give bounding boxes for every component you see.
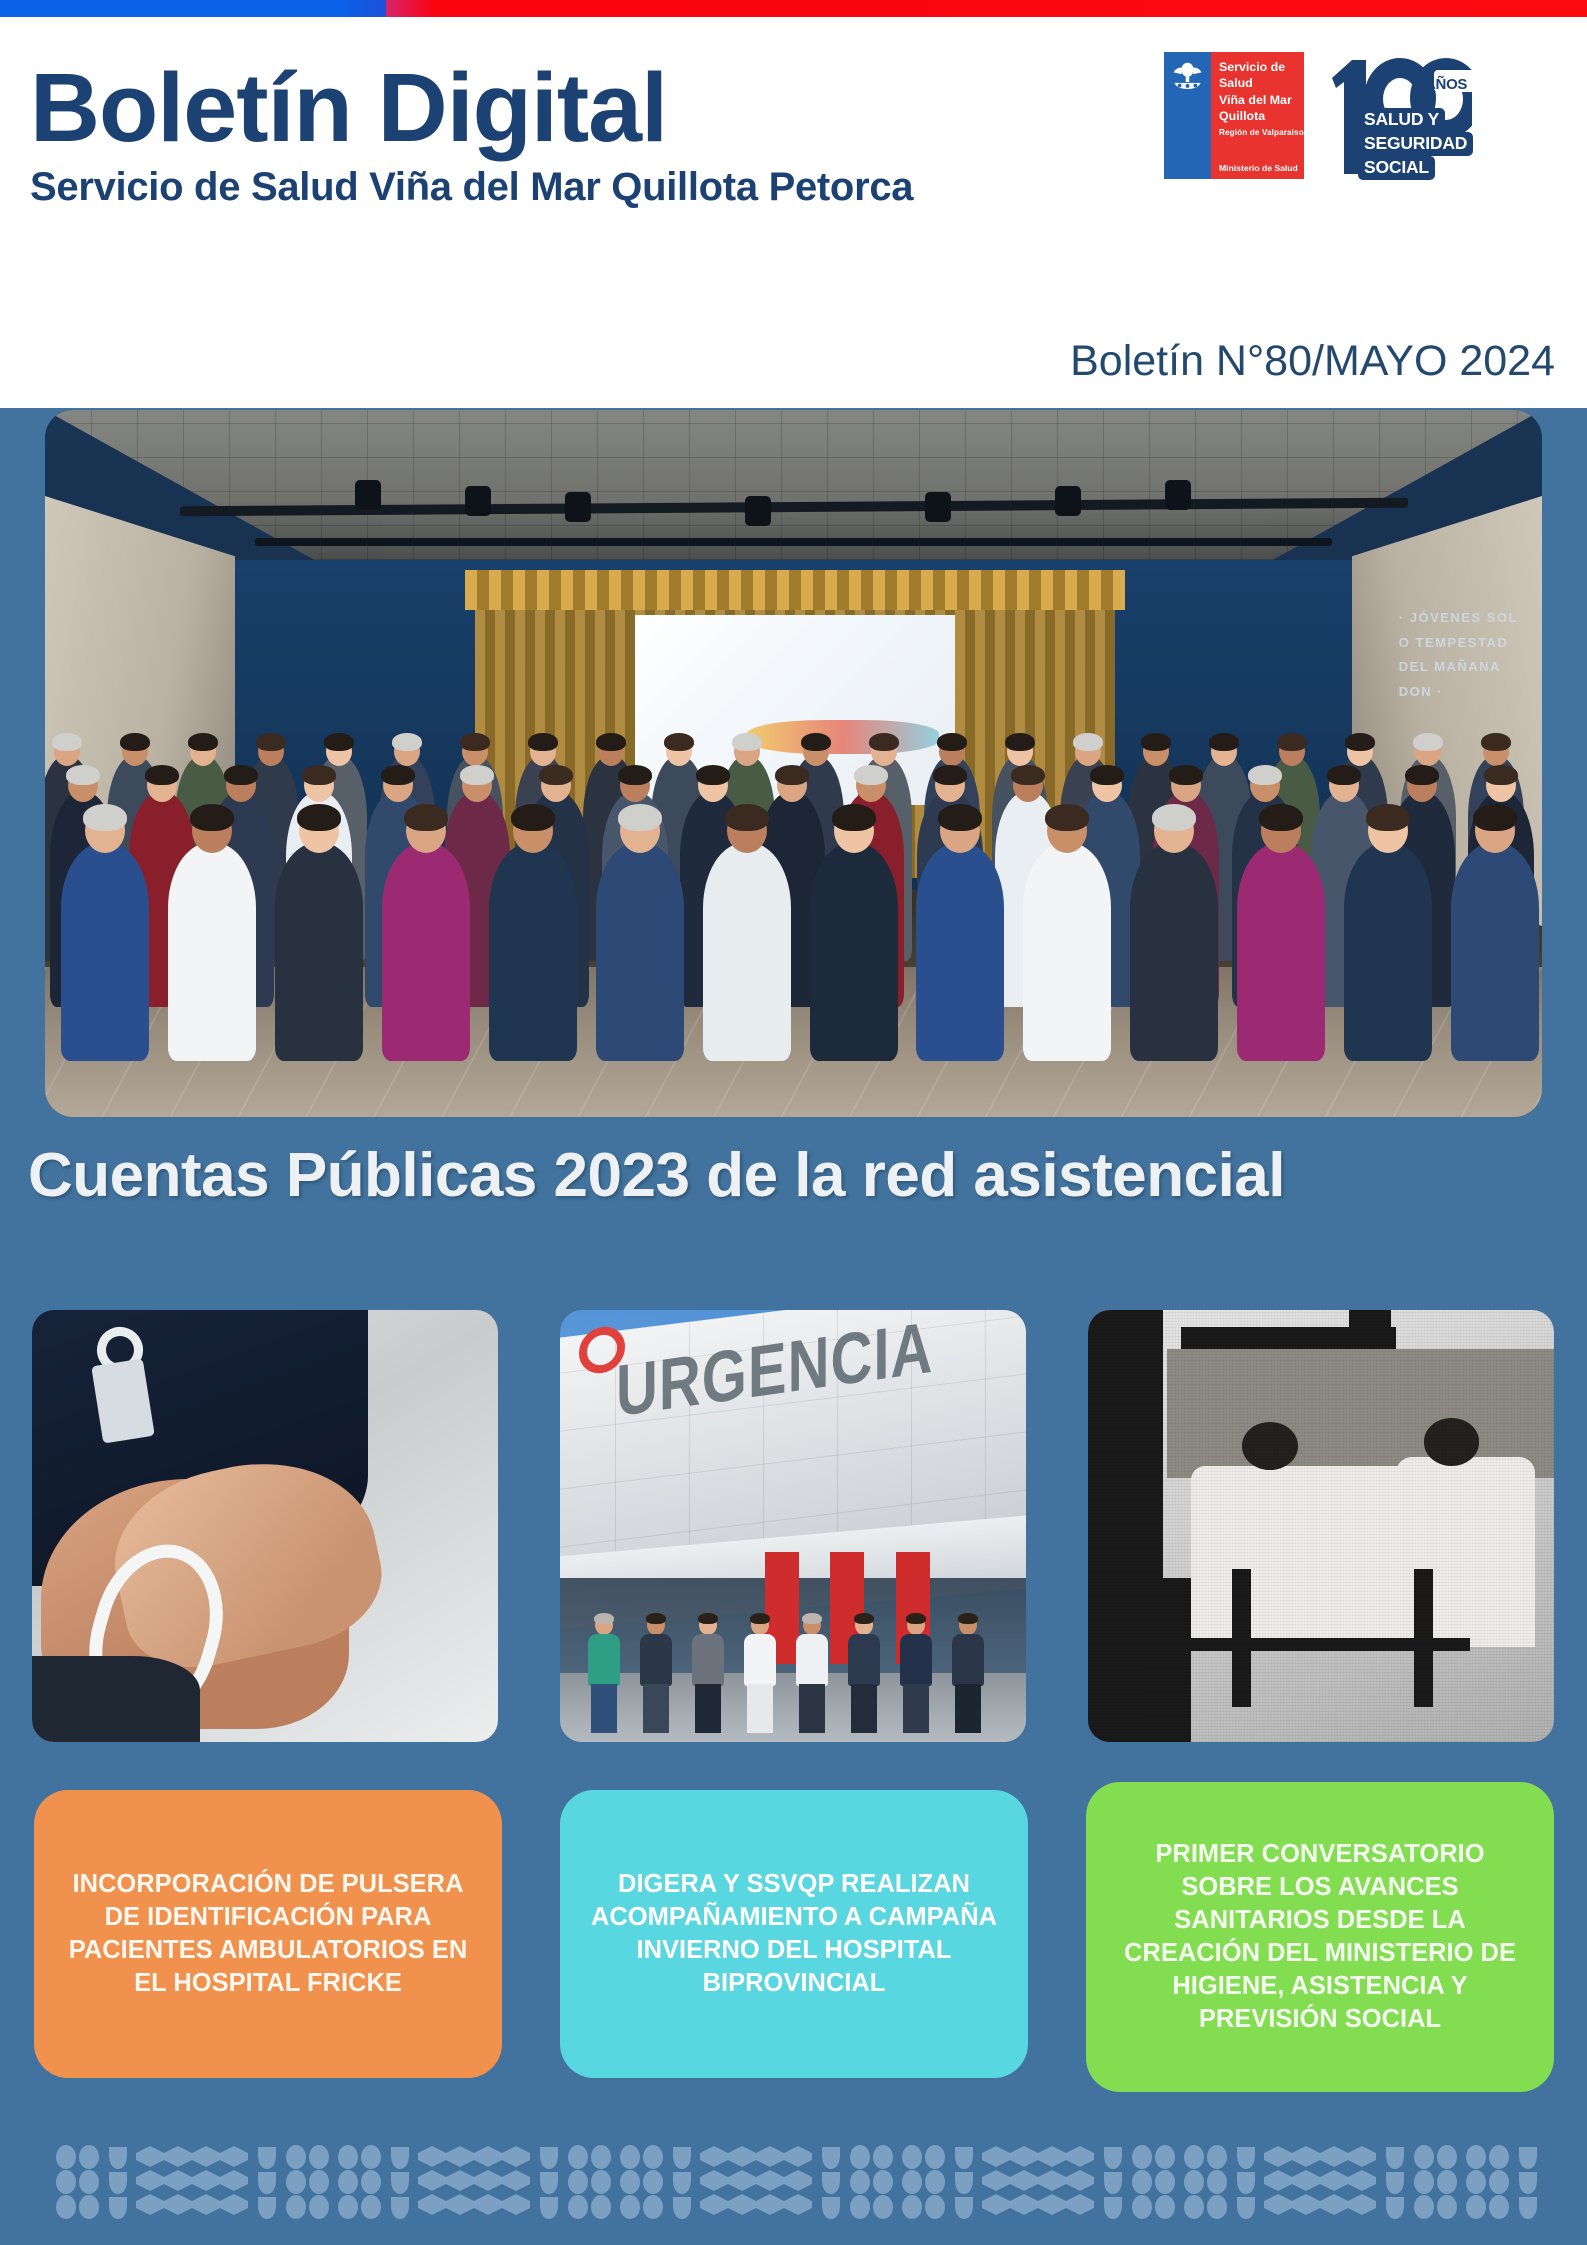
footer-pattern-band [0, 2133, 1587, 2227]
topbar-red-segment [386, 0, 1587, 17]
flag-blue-panel [1164, 52, 1211, 179]
masthead: Boletín Digital Servicio de Salud Viña d… [30, 57, 1110, 210]
crowd-person [61, 843, 149, 1061]
staff-person-hair [958, 1613, 978, 1624]
logo-block: Servicio de Salud Viña del Mar Quillota … [1164, 52, 1472, 180]
staff-person-legs [851, 1684, 877, 1733]
crowd-person [1451, 843, 1539, 1061]
crowd-person-hair [1413, 733, 1443, 751]
staff-person [582, 1615, 626, 1733]
crowd-person-hair [854, 765, 888, 785]
crowd-person [916, 843, 1004, 1061]
armrest [32, 1656, 200, 1742]
service-line-1: Servicio de Salud [1219, 59, 1304, 92]
crowd-person-hair [224, 765, 258, 785]
crowd-person [810, 843, 898, 1061]
top-color-bar [0, 0, 1587, 17]
crowd-person-hair [460, 765, 494, 785]
crowd-person [1023, 843, 1111, 1061]
crowd-person-hair [120, 733, 150, 751]
crowd-person-hair [460, 733, 490, 751]
caption-row: INCORPORACIÓN DE PULSERA DE IDENTIFICACI… [0, 1790, 1587, 2120]
crowd-person-hair [1259, 804, 1303, 831]
header-block: Boletín Digital Servicio de Salud Viña d… [0, 17, 1587, 408]
crowd-person-hair [1090, 765, 1124, 785]
stage-lamp-icon [745, 496, 771, 526]
staff-person-legs [695, 1684, 721, 1733]
anniversary-line-1: SALUD Y [1358, 108, 1445, 132]
stage-lamp-icon [565, 492, 591, 522]
crowd-person-hair [1045, 804, 1089, 831]
crowd-person-hair [725, 804, 769, 831]
wall-quote-line-1: · JÓVENES SOL [1399, 606, 1518, 631]
crowd-person-hair [392, 733, 422, 751]
crowd-person-hair [539, 765, 573, 785]
stage-lamp-icon [465, 486, 491, 516]
anniversary-years-label: AÑOS [1425, 76, 1467, 93]
staff-person [634, 1615, 678, 1733]
staff-person-torso [640, 1634, 672, 1686]
staff-person-torso [952, 1634, 984, 1686]
crowd-person-hair [1248, 765, 1282, 785]
crowd-person [1344, 843, 1432, 1061]
hero-light-truss-2 [255, 538, 1333, 546]
crowd-person-hair [1141, 733, 1171, 751]
crowd-person-hair [145, 765, 179, 785]
crowd-person-hair [324, 733, 354, 751]
hero-crowd [45, 729, 1542, 1059]
crowd-person-hair [302, 765, 336, 785]
wall-quote-line-3: DEL MAÑANA [1399, 655, 1518, 680]
crowd-person-hair [381, 765, 415, 785]
hero-curtain-valance [465, 570, 1125, 610]
staff-person-hair [698, 1613, 718, 1624]
crowd-person-hair [1481, 733, 1511, 751]
crowd-person-hair [1366, 804, 1410, 831]
crowd-person-hair [1484, 765, 1518, 785]
crowd-person-hair [188, 733, 218, 751]
region-label: Región de Valparaíso [1219, 128, 1304, 139]
hero-headline: Cuentas Públicas 2023 de la red asistenc… [28, 1140, 1568, 1211]
crowd-person-hair [664, 733, 694, 751]
staff-person-hair [802, 1613, 822, 1624]
caption-historical[interactable]: PRIMER CONVERSATORIO SOBRE LOS AVANCES S… [1086, 1782, 1554, 2092]
crowd-person-hair [937, 733, 967, 751]
crowd-person-hair [1005, 733, 1035, 751]
staff-person-legs [643, 1684, 669, 1733]
crowd-person-hair [933, 765, 967, 785]
crowd-person-hair [528, 733, 558, 751]
service-name: Servicio de Salud Viña del Mar Quillota … [1219, 59, 1304, 138]
stage-lamp-icon [925, 492, 951, 522]
crowd-person-hair [869, 733, 899, 751]
crowd-person-hair [938, 804, 982, 831]
crowd-person-hair [1345, 733, 1375, 751]
stage-lamp-icon [1055, 486, 1081, 516]
topbar-blue-segment [0, 0, 386, 17]
crowd-person-hair [1405, 765, 1439, 785]
crowd-person [703, 843, 791, 1061]
staff-person-torso [848, 1634, 880, 1686]
staff-person-torso [744, 1634, 776, 1686]
staff-person-hair [906, 1613, 926, 1624]
photo-card-row: URGENCIA [0, 1310, 1587, 1742]
stage-lamp-icon [355, 480, 381, 510]
crowd-person-hair [1209, 733, 1239, 751]
staff-group [560, 1561, 1026, 1734]
crowd-person-hair [832, 804, 876, 831]
staff-person-hair [646, 1613, 666, 1624]
crowd-person [489, 843, 577, 1061]
staff-person-legs [747, 1684, 773, 1733]
coat-of-arms-icon [1170, 60, 1205, 90]
staff-person-hair [854, 1613, 874, 1624]
service-line-3: Quillota [1219, 108, 1304, 124]
anniversary-line-3: SOCIAL [1358, 156, 1435, 180]
caption-wristband[interactable]: INCORPORACIÓN DE PULSERA DE IDENTIFICACI… [34, 1790, 502, 2078]
crowd-person-hair [83, 804, 127, 831]
minsal-flag-logo: Servicio de Salud Viña del Mar Quillota … [1164, 52, 1304, 179]
photo-urgencia: URGENCIA [560, 1310, 1026, 1742]
crowd-person-hair [511, 804, 555, 831]
crowd-person [382, 843, 470, 1061]
bulletin-page: Boletín Digital Servicio de Salud Viña d… [0, 0, 1587, 2245]
staff-person-hair [750, 1613, 770, 1624]
crowd-person-hair [1169, 765, 1203, 785]
staff-person-hair [594, 1613, 614, 1624]
caption-urgencia[interactable]: DIGERA Y SSVQP REALIZAN ACOMPAÑAMIENTO A… [560, 1790, 1028, 2078]
stage-lamp-icon [1165, 480, 1191, 510]
crowd-person-hair [1327, 765, 1361, 785]
staff-person [686, 1615, 730, 1733]
crowd-person-hair [732, 733, 762, 751]
crowd-person [1130, 843, 1218, 1061]
crowd-person [275, 843, 363, 1061]
crowd-person-hair [1277, 733, 1307, 751]
photo-wristband [32, 1310, 498, 1742]
crowd-person-hair [190, 804, 234, 831]
crowd-person [1237, 843, 1325, 1061]
crowd-person-hair [404, 804, 448, 831]
staff-person-legs [955, 1684, 981, 1733]
page-title: Boletín Digital [30, 57, 1110, 159]
wall-quote-line-2: O TEMPESTAD [1399, 631, 1518, 656]
staff-person-torso [588, 1634, 620, 1686]
crowd-person-hair [1473, 804, 1517, 831]
staff-person-legs [799, 1684, 825, 1733]
staff-person [738, 1615, 782, 1733]
flag-red-panel: Servicio de Salud Viña del Mar Quillota … [1211, 52, 1304, 179]
crowd-person [168, 843, 256, 1061]
crowd-person-hair [696, 765, 730, 785]
staff-person-torso [692, 1634, 724, 1686]
staff-person [894, 1615, 938, 1733]
staff-person [842, 1615, 886, 1733]
page-subtitle: Servicio de Salud Viña del Mar Quillota … [30, 165, 1110, 210]
crowd-person-hair [801, 733, 831, 751]
staff-person-legs [591, 1684, 617, 1733]
centenary-logo: AÑOS SALUD Y SEGURIDAD SOCIAL [1322, 52, 1472, 180]
issue-label: Boletín N°80/MAYO 2024 [1070, 337, 1555, 386]
crowd-person-hair [1152, 804, 1196, 831]
staff-person-torso [796, 1634, 828, 1686]
crowd-person-hair [256, 733, 286, 751]
wall-quote-line-4: DON · [1399, 680, 1518, 705]
staff-person [790, 1615, 834, 1733]
service-line-2: Viña del Mar [1219, 92, 1304, 108]
crowd-person-hair [618, 804, 662, 831]
andean-textile-pattern-icon [0, 2133, 1587, 2227]
crowd-person-hair [66, 765, 100, 785]
staff-person [946, 1615, 990, 1733]
crowd-person [596, 843, 684, 1061]
crowd-person-hair [618, 765, 652, 785]
crowd-person-hair [775, 765, 809, 785]
hero-wall-quote: · JÓVENES SOL O TEMPESTAD DEL MAÑANA DON… [1399, 606, 1518, 705]
crowd-person-hair [52, 733, 82, 751]
staff-person-torso [900, 1634, 932, 1686]
crowd-person-hair [297, 804, 341, 831]
hero-photo: · JÓVENES SOL O TEMPESTAD DEL MAÑANA DON… [45, 410, 1542, 1117]
crowd-person-hair [596, 733, 626, 751]
staff-person-legs [903, 1684, 929, 1733]
crowd-person-hair [1073, 733, 1103, 751]
anniversary-line-2: SEGURIDAD [1358, 132, 1473, 156]
crowd-person-hair [1011, 765, 1045, 785]
ministry-label: Ministerio de Salud [1219, 163, 1298, 173]
photo-historical [1088, 1310, 1554, 1742]
